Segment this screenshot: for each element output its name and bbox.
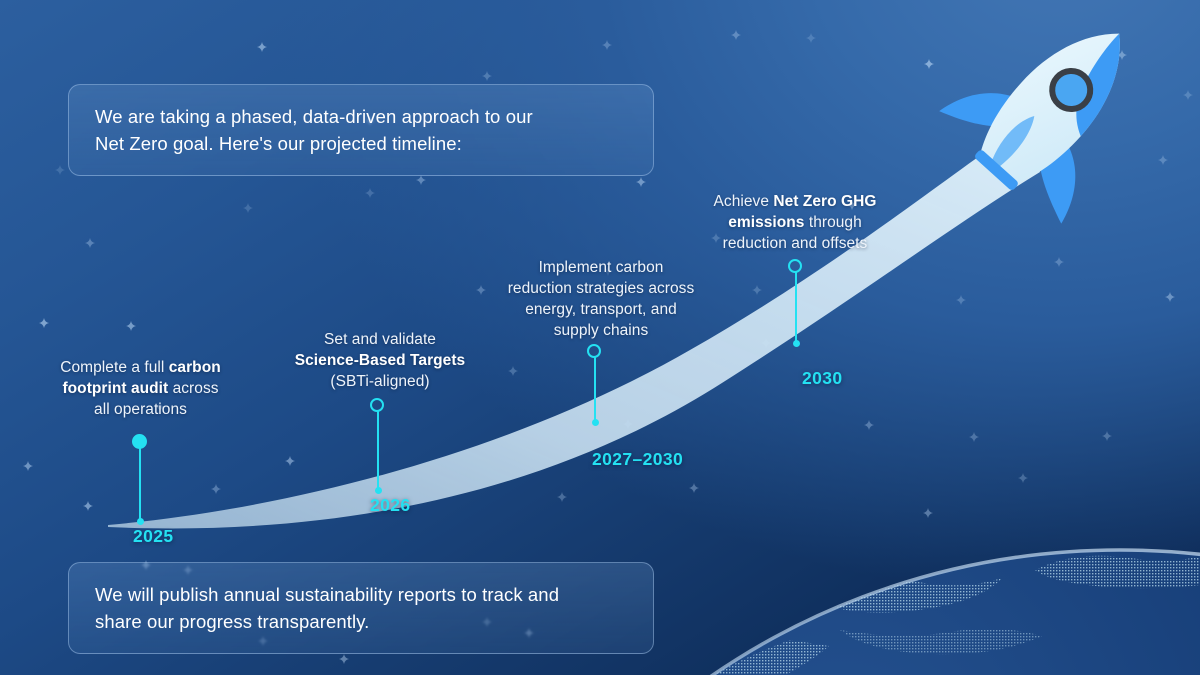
text-fragment: through	[804, 214, 861, 231]
text-fragment: Implement carbon	[539, 259, 664, 276]
outro-callout: We will publish annual sustainability re…	[68, 562, 654, 654]
milestone-2027-2030-stem	[594, 356, 596, 424]
text-fragment: all operations	[94, 401, 187, 418]
text-fragment: across	[168, 380, 218, 397]
text-fragment: Achieve	[714, 193, 774, 210]
text-emphasis: carbon	[169, 359, 221, 376]
milestone-2027-2030-knob[interactable]	[587, 344, 601, 358]
text-fragment: reduction and offsets	[723, 235, 868, 252]
milestone-2026-description: Set and validate Science-Based Targets (…	[268, 329, 492, 392]
milestone-2025-anchor	[137, 518, 144, 525]
milestone-2026-stem	[377, 410, 379, 492]
intro-line-2: Net Zero goal. Here's our projected time…	[95, 130, 627, 157]
text-emphasis: Net Zero GHG	[773, 193, 876, 210]
text-emphasis: emissions	[728, 214, 804, 231]
slide-canvas: We are taking a phased, data-driven appr…	[0, 0, 1200, 675]
milestone-2025-description: Complete a full carbon footprint audit a…	[28, 357, 253, 420]
milestone-2027-2030-description: Implement carbon reduction strategies ac…	[488, 257, 714, 341]
outro-line-2: share our progress transparently.	[95, 608, 627, 635]
milestone-2026-year: 2026	[370, 495, 411, 516]
text-emphasis: footprint audit	[62, 380, 168, 397]
text-fragment: energy, transport, and	[525, 301, 677, 318]
intro-callout: We are taking a phased, data-driven appr…	[68, 84, 654, 176]
milestone-2025-stem	[139, 447, 141, 523]
milestone-2025-year: 2025	[133, 526, 174, 547]
outro-line-1: We will publish annual sustainability re…	[95, 581, 627, 608]
text-fragment: Complete a full	[60, 359, 169, 376]
milestone-2027-2030-year: 2027–2030	[592, 449, 683, 470]
milestone-2030-description: Achieve Net Zero GHG emissions through r…	[700, 191, 890, 254]
milestone-2030-knob[interactable]	[788, 259, 802, 273]
intro-line-1: We are taking a phased, data-driven appr…	[95, 103, 627, 130]
milestone-2026-anchor	[375, 487, 382, 494]
milestone-2027-2030-anchor	[592, 419, 599, 426]
milestone-2030-stem	[795, 271, 797, 345]
text-fragment: reduction strategies across	[508, 280, 695, 297]
milestone-2026-knob[interactable]	[370, 398, 384, 412]
text-emphasis: Science-Based Targets	[295, 352, 465, 369]
milestone-2030-anchor	[793, 340, 800, 347]
text-fragment: (SBTi-aligned)	[330, 373, 429, 390]
milestone-2025-knob[interactable]	[132, 434, 147, 449]
text-fragment: Set and validate	[324, 331, 436, 348]
milestone-2030-year: 2030	[802, 368, 843, 389]
text-fragment: supply chains	[554, 322, 649, 339]
